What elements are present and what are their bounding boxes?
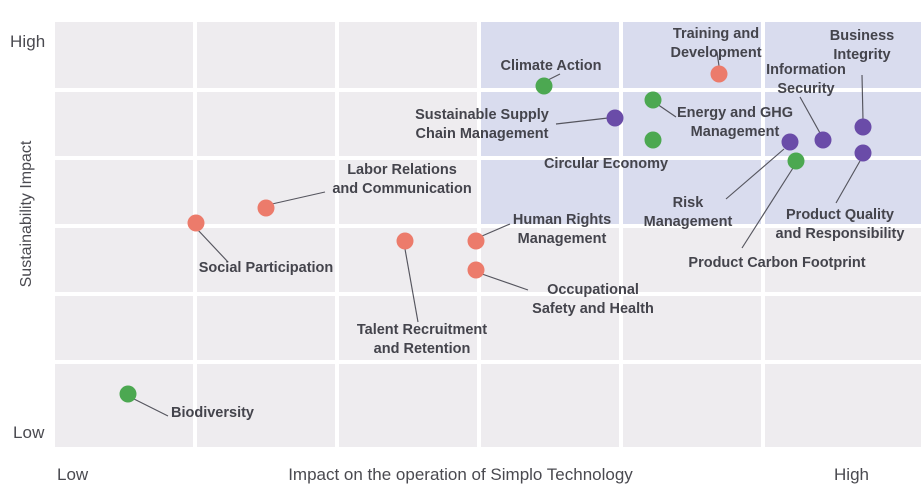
label-business-integrity: Business Integrity [830,27,894,64]
point-training-development[interactable] [711,66,728,83]
grid-cell [197,22,335,88]
x-axis-title: Impact on the operation of Simplo Techno… [0,465,921,485]
label-climate-action: Climate Action [501,57,602,76]
label-risk-management: Risk Management [644,194,733,231]
grid-cell [197,92,335,156]
grid-cell [55,228,193,292]
point-business-integrity[interactable] [855,119,872,136]
y-axis-title: Sustainability Impact [18,114,36,314]
point-social-participation[interactable] [188,215,205,232]
point-occupational-safety[interactable] [468,262,485,279]
point-circular-economy[interactable] [645,132,662,149]
point-product-quality[interactable] [855,145,872,162]
point-biodiversity[interactable] [120,386,137,403]
grid-cell [197,296,335,360]
label-training-development: Training and Development [670,25,761,62]
grid-cell [55,92,193,156]
point-labor-relations[interactable] [258,200,275,217]
grid-cell [339,22,477,88]
label-circular-economy: Circular Economy [544,155,668,174]
grid-cell [339,364,477,447]
point-climate-action[interactable] [536,78,553,95]
y-axis-high-tick: High [10,32,45,52]
label-sustainable-supply-chain: Sustainable Supply Chain Management [415,106,549,143]
grid-cell [765,364,921,447]
grid-cell [55,22,193,88]
label-occupational-safety: Occupational Safety and Health [532,281,654,318]
grid-cell [481,364,619,447]
label-biodiversity: Biodiversity [171,404,254,423]
grid-cell [623,364,761,447]
y-axis-low-tick: Low [13,423,45,443]
label-information-security: Information Security [766,61,846,98]
label-social-participation: Social Participation [199,259,334,278]
label-talent-recruitment: Talent Recruitment and Retention [357,321,487,358]
grid-cell [55,160,193,224]
label-labor-relations: Labor Relations and Communication [332,161,471,198]
materiality-matrix-chart: Biodiversity Social Participation Labor … [0,0,921,497]
label-human-rights: Human Rights Management [513,211,611,248]
label-product-quality: Product Quality and Responsibility [776,206,905,243]
point-human-rights[interactable] [468,233,485,250]
label-energy-ghg: Energy and GHG Management [677,104,793,141]
point-talent-recruitment[interactable] [397,233,414,250]
point-energy-ghg[interactable] [645,92,662,109]
grid-cell-highlight [481,22,619,88]
point-sustainable-supply-chain[interactable] [607,110,624,127]
grid-cell [765,296,921,360]
label-product-carbon-footprint: Product Carbon Footprint [688,254,865,273]
point-information-security[interactable] [815,132,832,149]
point-product-carbon-footprint[interactable] [788,153,805,170]
grid-cell [55,296,193,360]
